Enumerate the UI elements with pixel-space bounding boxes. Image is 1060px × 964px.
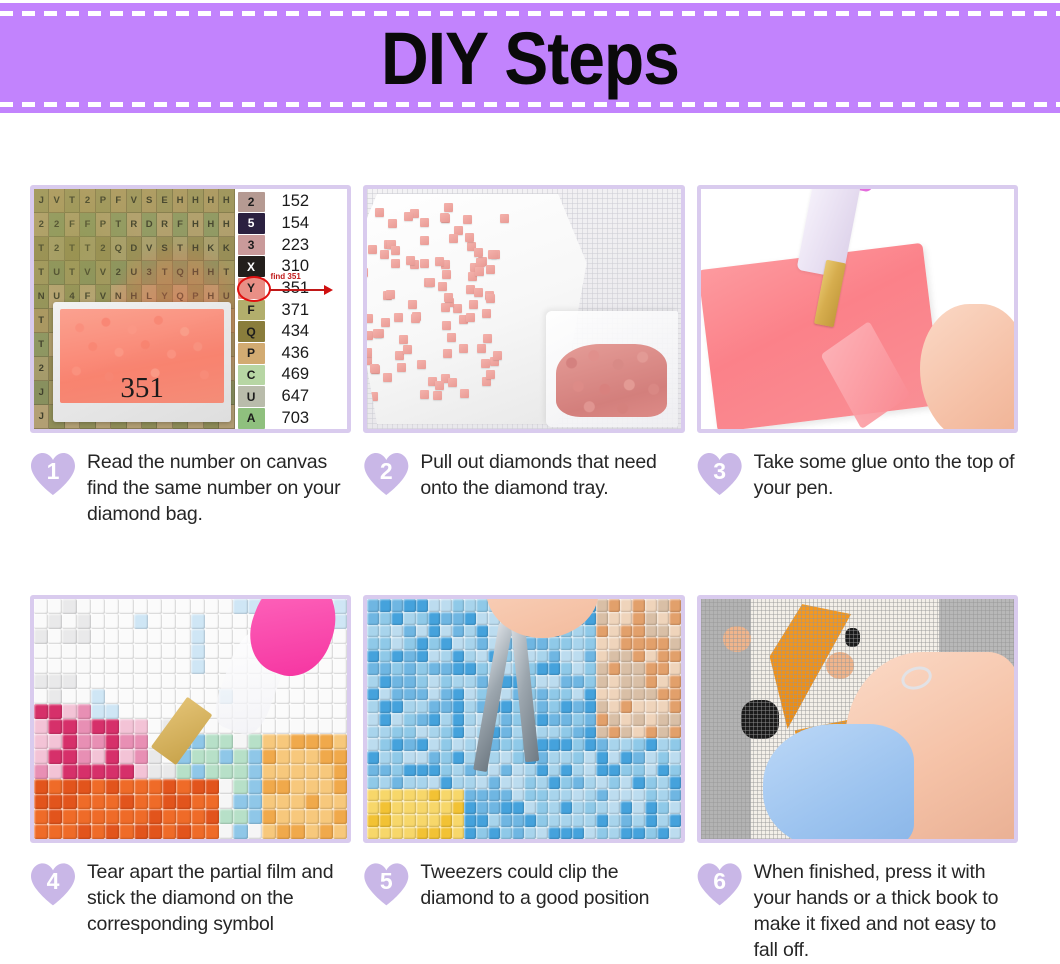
mosaic-bead [62,809,76,824]
mosaic-bead [148,809,162,824]
mosaic-bead [428,814,440,827]
mosaic-bead [632,713,644,726]
mosaic-bead [391,675,403,688]
mosaic-bead [105,749,119,764]
canvas-cell: 2 [49,213,64,237]
mosaic-bead [62,614,76,629]
mosaic-bead [584,713,596,726]
mosaic-bead [512,827,524,840]
step-2: 2 Pull out diamonds that need onto the d… [363,185,696,571]
mosaic-bead [119,779,133,794]
mosaic-bead [452,814,464,827]
mosaic-bead [176,779,190,794]
mosaic-bead [632,625,644,638]
mosaic-bead [596,625,608,638]
mosaic-bead [476,801,488,814]
mosaic-bead [657,625,669,638]
mosaic-bead [584,650,596,663]
mosaic-bead [632,726,644,739]
diamond-pack [546,311,678,426]
mosaic-bead [620,625,632,638]
mosaic-bead [205,734,219,749]
mosaic-bead [428,776,440,789]
mosaic-bead [333,824,347,839]
canvas-cell: 2 [34,213,49,237]
canvas-cell: T [219,261,234,285]
mosaic-bead [608,688,620,701]
mosaic-bead [620,801,632,814]
mosaic-bead [536,662,548,675]
mosaic-bead [440,776,452,789]
mosaic-bead [669,662,681,675]
mosaic-bead [391,700,403,713]
mosaic-bead [248,824,262,839]
mosaic-bead [416,827,428,840]
mosaic-bead [560,688,572,701]
mosaic-bead [48,749,62,764]
tray-bead [447,333,456,342]
mosaic-bead [77,824,91,839]
mosaic-bead [367,827,379,840]
mosaic-bead [305,764,319,779]
mosaic-bead [572,726,584,739]
mosaic-bead [428,625,440,638]
mosaic-bead [219,764,233,779]
mosaic-bead [608,738,620,751]
mosaic-bead [319,779,333,794]
mosaic-bead [403,726,415,739]
mosaic-bead [134,614,148,629]
find-arrow-icon [269,289,325,291]
legend-number: 647 [282,386,348,408]
mosaic-bead [669,675,681,688]
step-3: 3 Take some glue onto the top of your pe… [697,185,1030,571]
tray-bead [493,351,502,360]
mosaic-bead [645,764,657,777]
mosaic-bead [596,738,608,751]
tray-bead [460,389,469,398]
mosaic-bead [62,674,76,689]
tray-bead [444,203,453,212]
mosaic-bead [560,700,572,713]
mosaic-bead [91,614,105,629]
mosaic-bead [452,801,464,814]
mosaic-bead [620,827,632,840]
mosaic-bead [91,719,105,734]
mosaic-bead [48,689,62,704]
mosaic-bead [608,789,620,802]
mosaic-bead [596,688,608,701]
mosaic-bead [233,749,247,764]
tray-bead [442,270,451,279]
mosaic-bead [319,704,333,719]
mosaic-bead [248,764,262,779]
mosaic-bead [669,688,681,701]
mosaic-bead [290,764,304,779]
mosaic-bead [77,629,91,644]
mosaic-bead [333,674,347,689]
mosaic-bead [134,644,148,659]
mosaic-bead [645,625,657,638]
mosaic-bead [219,629,233,644]
mosaic-bead [416,801,428,814]
mosaic-bead [119,614,133,629]
mosaic-bead [391,814,403,827]
mosaic-bead [62,689,76,704]
tray-bead [420,259,429,268]
legend-number-column: 152154223310351371434436469647703 [268,191,348,429]
mosaic-bead [403,675,415,688]
tray-bead [367,314,373,323]
step-4-number: 4 [30,862,76,906]
canvas-cell: T [34,309,49,333]
mosaic-bead [105,779,119,794]
mosaic-bead [645,827,657,840]
mosaic-bead [305,809,319,824]
mosaic-bead [620,776,632,789]
mosaic-bead [657,726,669,739]
mosaic-bead [645,801,657,814]
mosaic-bead [596,612,608,625]
mosaic-bead [276,794,290,809]
mosaic-bead [657,751,669,764]
mosaic-bead [500,801,512,814]
mosaic-bead [262,809,276,824]
mosaic-bead [476,776,488,789]
mosaic-bead [379,726,391,739]
mosaic-bead [548,650,560,663]
mosaic-bead [608,801,620,814]
mosaic-bead [669,827,681,840]
legend-number: 469 [282,364,348,386]
mosaic-bead [452,599,464,612]
mosaic-bead [572,776,584,789]
mosaic-bead [584,726,596,739]
mosaic-bead [572,801,584,814]
tray-bead [481,359,490,368]
canvas-cell: V [96,261,111,285]
canvas-cell: U [127,261,142,285]
mosaic-bead [416,814,428,827]
mosaic-bead [233,809,247,824]
mosaic-bead [620,726,632,739]
legend-number: 154 [282,213,348,235]
tray-bead [486,370,495,379]
mosaic-bead [391,688,403,701]
mosaic-bead [119,629,133,644]
mosaic-bead [48,704,62,719]
mosaic-bead [134,794,148,809]
canvas-cell: Q [173,261,188,285]
mosaic-bead [191,749,205,764]
mosaic-bead [560,713,572,726]
mosaic-bead [91,749,105,764]
mosaic-bead [669,625,681,638]
mosaic-bead [367,776,379,789]
mosaic-bead [391,751,403,764]
step-1-number: 1 [30,452,76,496]
mosaic-bead [440,726,452,739]
mosaic-bead [176,659,190,674]
legend-highlight-circle [237,276,271,302]
mosaic-bead [669,713,681,726]
mosaic-bead [391,662,403,675]
mosaic-bead [62,629,76,644]
mosaic-bead [452,764,464,777]
tray-bead [440,213,449,222]
mosaic-bead [77,614,91,629]
mosaic-bead [560,801,572,814]
mosaic-bead [233,764,247,779]
mosaic-bead [608,700,620,713]
mosaic-bead [91,824,105,839]
mosaic-bead [290,794,304,809]
mosaic-bead [391,650,403,663]
tray-bead [474,288,483,297]
mosaic-bead [62,644,76,659]
mosaic-bead [319,734,333,749]
step-2-heart-badge: 2 [363,452,409,496]
canvas-cell: V [49,189,64,213]
mosaic-bead [464,625,476,638]
canvas-cell: J [34,381,49,405]
tray-bead [488,250,497,259]
mosaic-bead [572,662,584,675]
mosaic-bead [403,751,415,764]
mosaic-bead [608,814,620,827]
canvas-cell: 2 [49,237,64,261]
mosaic-bead [319,674,333,689]
mosaic-bead [657,738,669,751]
mosaic-bead [428,688,440,701]
mosaic-bead [148,629,162,644]
legend-number: 436 [282,342,348,364]
mosaic-bead [572,713,584,726]
mosaic-bead [645,776,657,789]
mosaic-bead [391,789,403,802]
mosaic-bead [391,599,403,612]
mosaic-bead [62,734,76,749]
mosaic-bead [403,700,415,713]
mosaic-bead [77,644,91,659]
step-6-heart-badge: 6 [697,862,743,906]
tray-bead [442,321,451,330]
canvas-cell: E [157,189,172,213]
canvas-cell: R [157,213,172,237]
mosaic-bead [464,650,476,663]
mosaic-bead [262,794,276,809]
mosaic-bead [105,599,119,614]
mosaic-bead [91,674,105,689]
mosaic-bead [632,764,644,777]
tray-bead [500,214,509,223]
mosaic-bead [416,751,428,764]
tray-bead [391,259,400,268]
mosaic-bead [524,801,536,814]
mosaic-bead [34,704,48,719]
mosaic-bead [584,827,596,840]
mosaic-bead [34,644,48,659]
legend-symbol: P [238,343,265,364]
mosaic-bead [440,662,452,675]
mosaic-bead [290,749,304,764]
mosaic-bead [319,689,333,704]
tray-bead [435,257,444,266]
mosaic-bead [416,700,428,713]
mosaic-bead [548,675,560,688]
diy-steps-page: DIY Steps JVT2PFVSEHHHH22FFPTRDRFHHHT2TT… [0,0,1060,964]
mosaic-bead [620,637,632,650]
tray-bead [448,378,457,387]
canvas-cell: H [188,237,203,261]
mosaic-bead [91,659,105,674]
step-4-caption: Tear apart the partial film and stick th… [87,860,351,938]
mosaic-bead [645,637,657,650]
mosaic-bead [500,688,512,701]
mosaic-bead [176,809,190,824]
mosaic-bead [77,749,91,764]
tray-bead [399,335,408,344]
mosaic-bead [379,814,391,827]
mosaic-bead [645,650,657,663]
mosaic-bead [162,599,176,614]
mosaic-bead [596,700,608,713]
legend-number: 703 [282,407,348,429]
mosaic-bead [205,599,219,614]
mosaic-bead [48,599,62,614]
mosaic-bead [91,689,105,704]
mosaic-bead [290,689,304,704]
mosaic-bead [536,789,548,802]
mosaic-bead [403,801,415,814]
tray-bead [373,329,382,338]
mosaic-bead [91,794,105,809]
mosaic-bead [536,675,548,688]
mosaic-bead [403,814,415,827]
mosaic-bead [645,688,657,701]
mosaic-bead [305,749,319,764]
mosaic-bead [77,764,91,779]
mosaic-bead [620,814,632,827]
glue-fold [820,321,909,429]
mosaic-bead [319,749,333,764]
mosaic-bead [367,751,379,764]
mosaic-bead [512,801,524,814]
canvas-cell: P [96,189,111,213]
mosaic-bead [452,738,464,751]
mosaic-bead [608,625,620,638]
mosaic-bead [205,629,219,644]
tray-bead [465,233,474,242]
mosaic-bead [333,704,347,719]
mosaic-bead [379,675,391,688]
mosaic-bead [105,659,119,674]
mosaic-bead [391,637,403,650]
mosaic-bead [290,734,304,749]
pack-beads [556,344,667,418]
mosaic-bead [105,689,119,704]
glue-pen-photo [701,189,1014,429]
mosaic-bead [403,764,415,777]
mosaic-bead [536,814,548,827]
mosaic-bead [632,637,644,650]
canvas-cell: 2 [80,189,95,213]
mosaic-bead [669,650,681,663]
canvas-cell: 2 [34,357,49,381]
tray-bead [420,218,429,227]
canvas-cell: T [34,237,49,261]
mosaic-bead [669,726,681,739]
step-1: JVT2PFVSEHHHH22FFPTRDRFHHHT2TT2QDVSTHKKT… [30,185,363,571]
legend-symbol-column: 253XYFQPCUA [235,191,268,429]
mosaic-bead [452,776,464,789]
mosaic-bead [379,713,391,726]
mosaic-bead [596,789,608,802]
canvas-cell: D [142,213,157,237]
mosaic-bead [464,827,476,840]
mosaic-bead [428,726,440,739]
mosaic-bead [524,776,536,789]
mosaic-bead [34,719,48,734]
mosaic-bead [134,659,148,674]
mosaic-bead [645,599,657,612]
tray-bead [406,256,415,265]
step-1-caption: Read the number on canvas find the same … [87,450,351,528]
mosaic-bead [452,637,464,650]
mosaic-bead [632,599,644,612]
mosaic-bead [105,719,119,734]
mosaic-bead [669,612,681,625]
tray-bead [441,303,450,312]
tray-bead [453,304,462,313]
mosaic-bead [191,809,205,824]
canvas-cell: D [127,237,142,261]
mosaic-bead [488,801,500,814]
mosaic-bead [572,764,584,777]
mosaic-bead [91,644,105,659]
mosaic-bead [162,809,176,824]
mosaic-bead [305,779,319,794]
mosaic-bead [219,734,233,749]
mosaic-bead [77,674,91,689]
tray-bead [370,364,379,373]
mosaic-bead [548,776,560,789]
tray-bead [476,258,485,267]
step-3-number: 3 [697,452,743,496]
step-5-number: 5 [363,862,409,906]
mosaic-bead [403,662,415,675]
mosaic-bead [440,675,452,688]
mosaic-bead [290,674,304,689]
mosaic-bead [548,700,560,713]
mosaic-bead [584,738,596,751]
mosaic-bead [48,614,62,629]
mosaic-bead [403,625,415,638]
legend-symbol: 3 [238,235,265,256]
mosaic-bead [191,599,205,614]
mosaic-bead [440,751,452,764]
mosaic-bead [62,704,76,719]
mosaic-bead [536,764,548,777]
mosaic-bead [119,764,133,779]
mosaic-bead [379,789,391,802]
step-5-caption: Tweezers could clip the diamond to a goo… [420,860,684,912]
mosaic-bead [367,688,379,701]
canvas-cell: H [188,261,203,285]
mosaic-bead [632,801,644,814]
mosaic-bead [476,650,488,663]
tray-bead [459,344,468,353]
